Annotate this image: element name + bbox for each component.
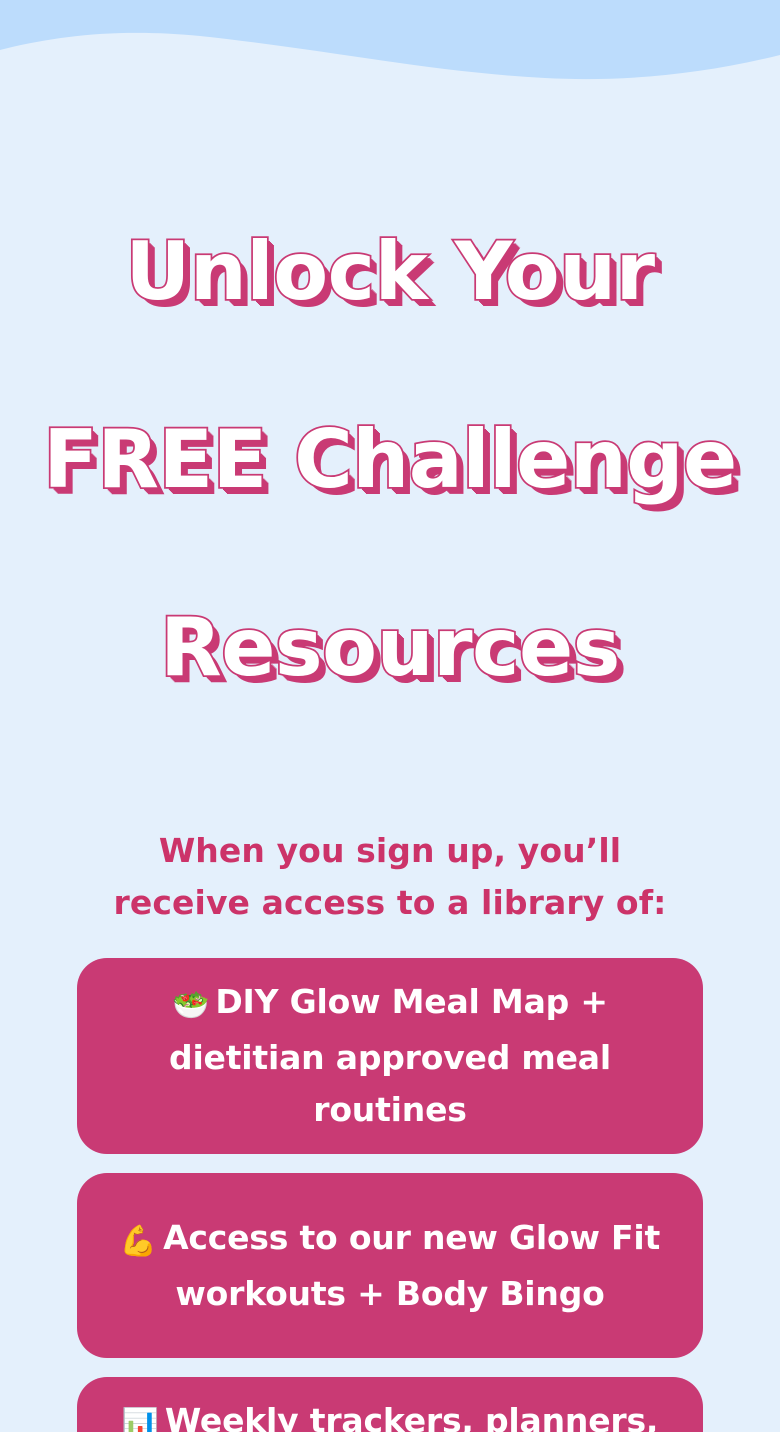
benefit-card-text: 🥗DIY Glow Meal Map + dietitian approved … xyxy=(113,976,667,1136)
benefit-card-text: 📊Weekly trackers, planners, + craving-fr… xyxy=(113,1395,667,1432)
bar-chart-icon: 📊 xyxy=(122,1407,159,1432)
benefit-card-line-2: approved meal routines xyxy=(313,1038,611,1129)
page-title-line-1: Unlock Your xyxy=(20,225,760,319)
page-title-line-2: FREE Challenge xyxy=(20,413,760,507)
benefit-card[interactable]: 💪Access to our new Glow Fit workouts + B… xyxy=(77,1173,703,1358)
benefit-card[interactable]: 🥗DIY Glow Meal Map + dietitian approved … xyxy=(77,958,703,1154)
page-title-line-3: Resources xyxy=(20,601,760,695)
benefit-card-text: 💪Access to our new Glow Fit workouts + B… xyxy=(113,1212,667,1320)
page-title: Unlock Your FREE Challenge Resources xyxy=(20,131,760,789)
page-subtitle: When you sign up, you’ll receive access … xyxy=(70,825,710,929)
flexed-biceps-icon: 💪 xyxy=(120,1224,157,1259)
content-column: Unlock Your FREE Challenge Resources Whe… xyxy=(0,0,780,1432)
page-subtitle-line-2: receive access to a library of: xyxy=(70,877,710,929)
benefit-card[interactable]: 📊Weekly trackers, planners, + craving-fr… xyxy=(77,1377,703,1432)
page-subtitle-line-1: When you sign up, you’ll xyxy=(70,825,710,877)
benefit-card-line-1: Access to our new Glow xyxy=(163,1218,600,1257)
benefit-card-line-1: Weekly trackers, planners, + xyxy=(165,1401,658,1432)
benefit-card-list: 🥗DIY Glow Meal Map + dietitian approved … xyxy=(77,958,703,1432)
promo-page: Unlock Your FREE Challenge Resources Whe… xyxy=(0,0,780,1432)
green-salad-icon: 🥗 xyxy=(172,988,209,1023)
